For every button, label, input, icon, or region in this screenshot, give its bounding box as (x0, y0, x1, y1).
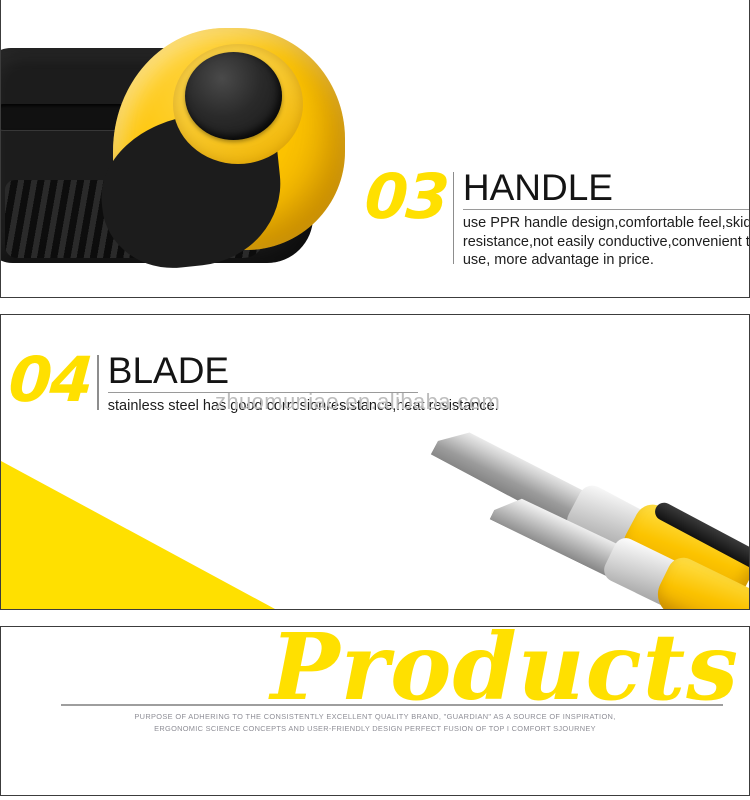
spec-underline (463, 209, 750, 210)
spec-block-blade: 04 BLADE stainless steel has good corros… (9, 351, 499, 416)
spec-number-handle: 03 (363, 168, 449, 226)
spec-block-handle: 03 HANDLE use PPR handle design,comforta… (365, 168, 750, 270)
spec-description-blade: stainless steel has good corrosionresist… (108, 397, 499, 416)
handle-lock-button (185, 52, 282, 140)
spec-number-blade: 04 (7, 351, 93, 409)
spec-title-handle: HANDLE (463, 168, 750, 208)
panel-products-banner: Products PURPOSE OF ADHERING TO THE CONS… (0, 626, 750, 796)
products-underline (61, 704, 723, 706)
products-heading: Products (270, 626, 739, 713)
spec-title-blade: BLADE (108, 351, 499, 391)
spec-body-handle: HANDLE use PPR handle design,comfortable… (454, 168, 750, 270)
products-tagline-line1: PURPOSE OF ADHERING TO THE CONSISTENTLY … (1, 711, 749, 723)
product-detail-image: 03 HANDLE use PPR handle design,comforta… (0, 0, 750, 800)
yellow-diagonal-accent (1, 461, 275, 609)
spec-body-blade: BLADE stainless steel has good corrosion… (99, 351, 499, 416)
handle-photo (0, 4, 355, 292)
panel-handle: 03 HANDLE use PPR handle design,comforta… (0, 0, 750, 298)
spec-description-handle: use PPR handle design,comfortable feel,s… (463, 214, 750, 270)
panel-blade: 04 BLADE stainless steel has good corros… (0, 314, 750, 610)
products-tagline: PURPOSE OF ADHERING TO THE CONSISTENTLY … (1, 711, 749, 735)
products-tagline-line2: ERGONOMIC SCIENCE CONCEPTS AND USER-FRIE… (1, 723, 749, 735)
spec-underline (108, 392, 418, 393)
